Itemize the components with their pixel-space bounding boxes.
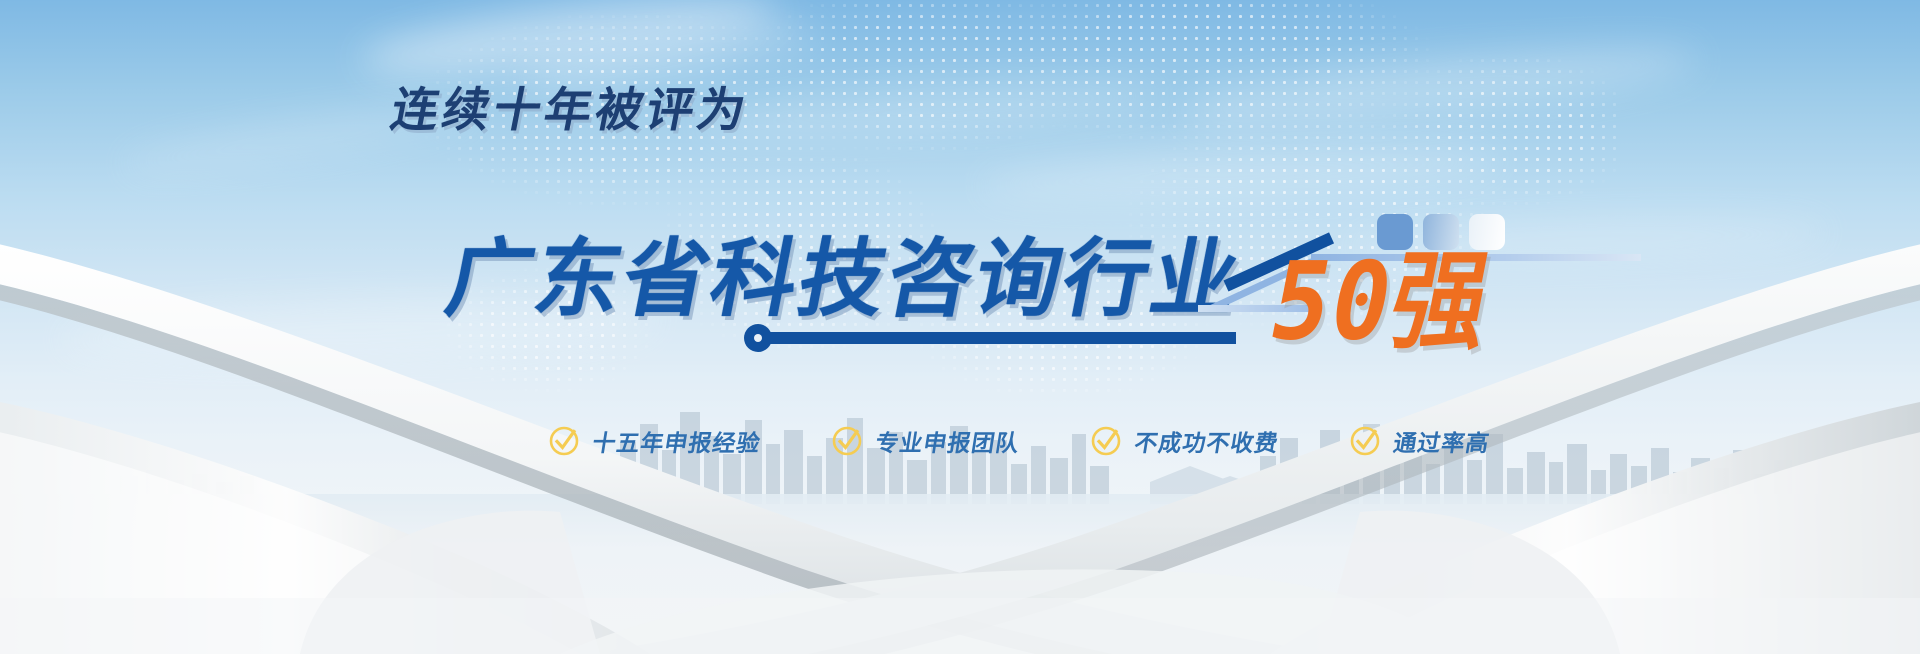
eyebrow-text: 连续十年被评为 [387,86,753,133]
feature-badge-label: 不成功不收费 [1132,424,1281,458]
check-circle-icon [548,425,580,457]
check-circle-icon [831,425,863,457]
check-circle-icon [1349,425,1381,457]
check-circle-icon [1090,425,1122,457]
promo-banner: 连续十年被评为 广东省科技咨询行业 50强 十五年申报经验 [0,0,1920,654]
rank-label: 50强 [1262,248,1500,356]
feature-badge-list: 十五年申报经验 专业申报团队 不成功不收费 [548,424,1490,458]
banner-content: 连续十年被评为 广东省科技咨询行业 50强 十五年申报经验 [0,0,1920,654]
feature-badge[interactable]: 十五年申报经验 [548,424,761,458]
feature-badge-label: 十五年申报经验 [590,424,763,458]
feature-badge[interactable]: 不成功不收费 [1090,424,1279,458]
connector-bar [766,332,1236,344]
feature-badge-label: 专业申报团队 [873,424,1022,458]
feature-badge[interactable]: 通过率高 [1349,424,1490,458]
feature-badge[interactable]: 专业申报团队 [831,424,1020,458]
feature-badge-label: 通过率高 [1391,424,1492,458]
page-title: 广东省科技咨询行业 [440,237,1249,322]
